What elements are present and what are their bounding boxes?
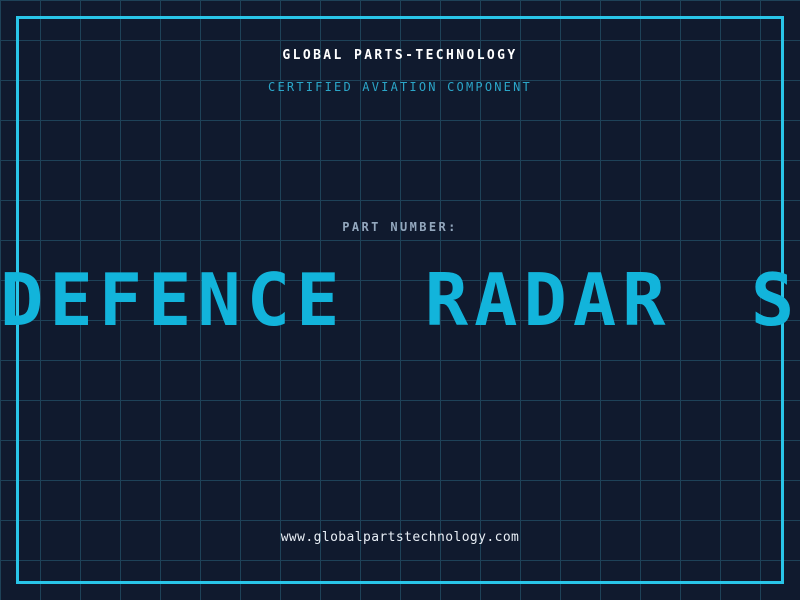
certification-subtitle: CERTIFIED AVIATION COMPONENT	[0, 80, 800, 94]
part-number-label: PART NUMBER:	[0, 220, 800, 234]
company-name: GLOBAL PARTS-TECHNOLOGY	[0, 48, 800, 63]
blueprint-card: GLOBAL PARTS-TECHNOLOGY CERTIFIED AVIATI…	[0, 0, 800, 600]
website-url: www.globalpartstechnology.com	[0, 530, 800, 545]
part-name-title: DEFENCE RADAR SYSTEM	[0, 262, 800, 338]
